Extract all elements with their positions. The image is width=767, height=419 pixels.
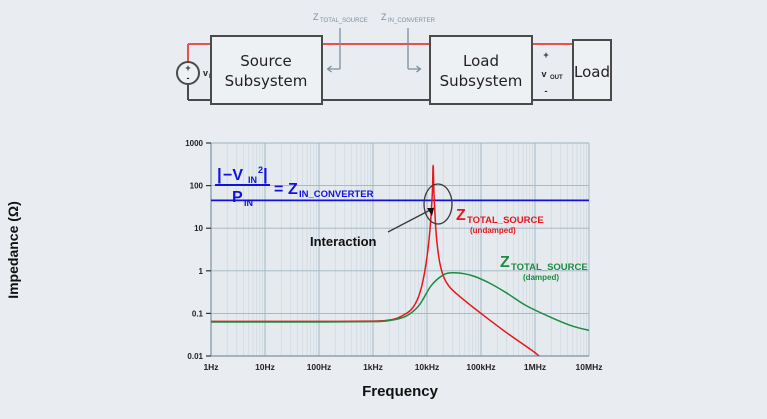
z-total-source-subscript: TOTAL_SOURCE bbox=[320, 18, 368, 24]
damped-note: (damped) bbox=[523, 273, 559, 282]
formula-denominator-sub: IN bbox=[244, 198, 253, 208]
x-tick-label: 1Hz bbox=[203, 362, 218, 372]
y-axis-title: Impedance (Ω) bbox=[5, 201, 21, 299]
vout-subscript: OUT bbox=[550, 75, 563, 81]
load-block-label: Load bbox=[574, 63, 610, 81]
z-in-converter-marker: Z IN_CONVERTER bbox=[381, 12, 436, 72]
source-plus: + bbox=[185, 63, 190, 73]
source-subsystem-line2: Subsystem bbox=[225, 72, 308, 90]
formula-numerator: −V bbox=[223, 167, 243, 184]
page-root: + - v IN Source Subsystem Load Subsystem… bbox=[0, 0, 767, 414]
x-tick-labels: 1Hz10Hz100Hz1kHz10kHz100kHz1MHz10MHz bbox=[203, 362, 602, 372]
damped-subscript: TOTAL_SOURCE bbox=[511, 262, 588, 273]
interaction-label: Interaction bbox=[310, 234, 377, 249]
source-subsystem-line1: Source bbox=[240, 52, 292, 70]
impedance-frequency-chart: 10001001010.10.01 1Hz10Hz100Hz1kHz10kHz1… bbox=[0, 128, 767, 414]
load-subsystem-line2: Subsystem bbox=[440, 72, 523, 90]
y-tick-label: 10 bbox=[194, 224, 203, 233]
y-tick-marks bbox=[206, 143, 211, 356]
load-subsystem-line1: Load bbox=[463, 52, 499, 70]
y-tick-label: 1 bbox=[199, 267, 204, 276]
x-tick-label: 1kHz bbox=[363, 362, 383, 372]
load-block[interactable]: Load bbox=[573, 40, 611, 100]
formula-result: Z bbox=[288, 181, 298, 198]
formula-numerator-sub: IN bbox=[248, 175, 257, 185]
y-tick-label: 1000 bbox=[185, 139, 203, 148]
y-tick-labels: 10001001010.10.01 bbox=[185, 139, 203, 361]
x-tick-label: 100kHz bbox=[466, 362, 495, 372]
source-minus: - bbox=[187, 73, 190, 83]
z-total-source-symbol: Z bbox=[313, 12, 319, 22]
x-tick-label: 100Hz bbox=[307, 362, 332, 372]
z-in-converter-symbol: Z bbox=[381, 12, 387, 22]
undamped-subscript: TOTAL_SOURCE bbox=[467, 215, 544, 226]
x-tick-label: 10MHz bbox=[576, 362, 603, 372]
source-subsystem-block[interactable]: Source Subsystem bbox=[211, 36, 322, 104]
formula-numerator-bar-right: | bbox=[263, 165, 268, 184]
x-tick-label: 10Hz bbox=[255, 362, 275, 372]
source-load-block-diagram: + - v IN Source Subsystem Load Subsystem… bbox=[0, 0, 767, 128]
undamped-note: (undamped) bbox=[470, 226, 516, 235]
x-tick-label: 10kHz bbox=[415, 362, 440, 372]
voltage-source-symbol: + - bbox=[177, 62, 199, 84]
x-tick-label: 1MHz bbox=[524, 362, 546, 372]
load-subsystem-block[interactable]: Load Subsystem bbox=[430, 36, 532, 104]
formula-denominator: P bbox=[232, 189, 243, 206]
vout-minus: - bbox=[545, 86, 548, 96]
undamped-symbol: Z bbox=[456, 207, 466, 224]
y-tick-label: 0.1 bbox=[192, 309, 204, 318]
formula-equals: = bbox=[274, 181, 283, 198]
formula-result-sub: IN_CONVERTER bbox=[299, 189, 374, 200]
vin-label: v bbox=[203, 68, 208, 78]
damped-symbol: Z bbox=[500, 254, 510, 271]
y-tick-label: 0.01 bbox=[187, 352, 203, 361]
vout-label: v bbox=[541, 69, 546, 79]
y-tick-label: 100 bbox=[190, 182, 204, 191]
formula-numerator-bar-left: | bbox=[217, 165, 222, 184]
vout-plus: + bbox=[543, 50, 548, 60]
z-in-converter-subscript: IN_CONVERTER bbox=[388, 18, 436, 24]
x-axis-title: Frequency bbox=[362, 383, 439, 400]
